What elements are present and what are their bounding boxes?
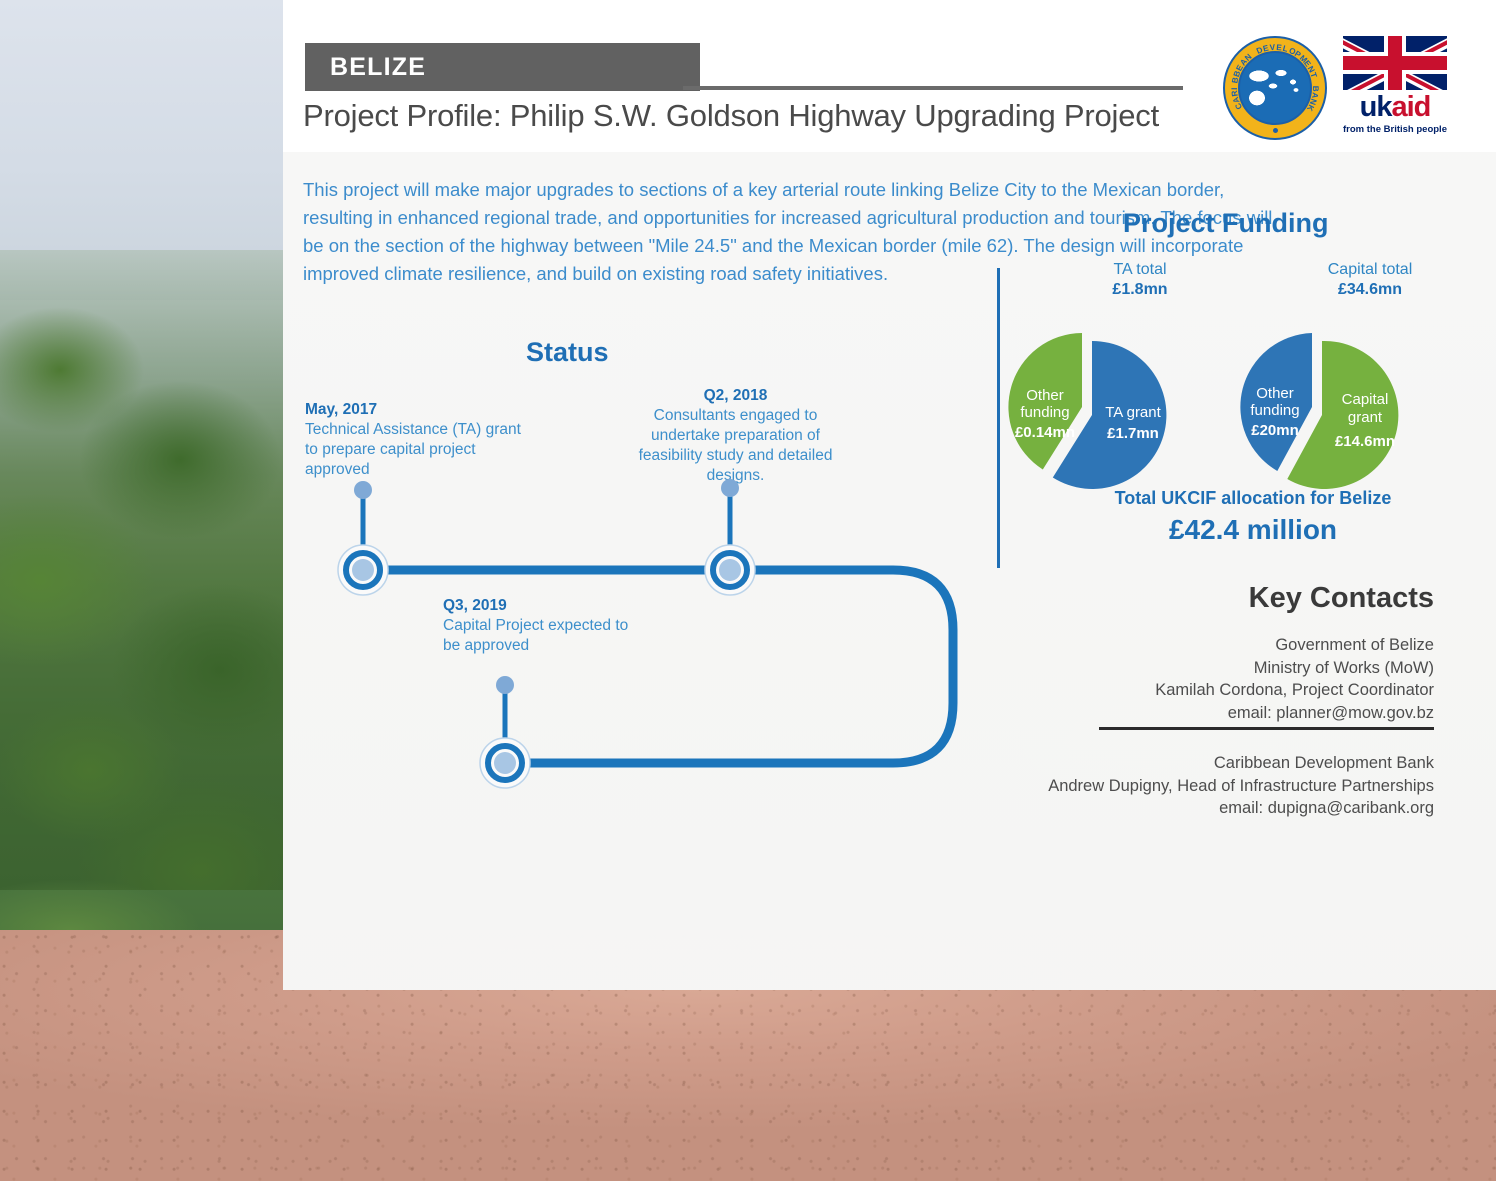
key-contact-government: Government of Belize Ministry of Works (…: [814, 634, 1434, 724]
status-timeline-graphic: [283, 152, 1003, 852]
pie-chart-ta: Other funding £0.14mn TA grant £1.7mn: [1008, 333, 1166, 489]
ukaid-logo: ukaid from the British people: [1339, 36, 1451, 144]
pie-ta-grant-label: TA grant: [1105, 404, 1161, 421]
pie-1-title: TA total: [1113, 261, 1166, 278]
milestone-3-node[interactable]: [480, 738, 530, 788]
ukaid-aid-text: aid: [1391, 91, 1430, 123]
milestone-3-stem-dot: [496, 676, 514, 694]
country-tag: BELIZE: [305, 43, 700, 91]
pie-cap-grant-value: £14.6mn: [1335, 433, 1395, 450]
pie-ta-other-label-l2: funding: [1020, 404, 1069, 421]
pie-cap-grant-label-l1: Capital: [1342, 391, 1389, 408]
page-title: Project Profile: Philip S.W. Goldson Hig…: [303, 98, 1159, 134]
contact-ministry: Ministry of Works (MoW): [814, 657, 1434, 680]
pie-cap-grant-label-l2: grant: [1348, 409, 1383, 426]
pie-ta-other-label-l1: Other: [1026, 387, 1064, 404]
milestone-2-stem-dot: [721, 479, 739, 497]
total-allocation-label: Total UKCIF allocation for Belize: [1043, 488, 1463, 509]
cdb-contact-email[interactable]: email: dupigna@caribank.org: [814, 797, 1434, 820]
pie-2-total: £34.6mn: [1260, 280, 1480, 300]
key-contacts-heading: Key Contacts: [1249, 582, 1434, 615]
pie-ta-grant-value: £1.7mn: [1107, 425, 1159, 442]
ukaid-wordmark: ukaid: [1339, 92, 1451, 122]
key-contacts-divider: [1099, 727, 1434, 730]
cdb-contact-person: Andrew Dupigny, Head of Infrastructure P…: [814, 775, 1434, 798]
content-panel: BELIZE Project Profile: Philip S.W. Gold…: [283, 0, 1496, 990]
ukaid-tagline: from the British people: [1339, 124, 1451, 135]
pie-2-caption: Capital total £34.6mn: [1260, 260, 1480, 300]
contact-org: Government of Belize: [814, 634, 1434, 657]
milestone-2-node[interactable]: [705, 545, 755, 595]
pie-cap-other-label-l2: funding: [1250, 402, 1299, 419]
pie-2-title: Capital total: [1328, 261, 1413, 278]
key-contact-cdb: Caribbean Development Bank Andrew Dupign…: [814, 752, 1434, 820]
pie-cap-other-label-l1: Other: [1256, 385, 1294, 402]
pie-ta-other-value: £0.14mn: [1015, 424, 1075, 441]
pie-1-total: £1.8mn: [1030, 280, 1250, 300]
milestone-1-stem-dot: [354, 481, 372, 499]
header-divider: [683, 86, 1183, 90]
milestone-1-node[interactable]: [338, 545, 388, 595]
funding-heading: Project Funding: [1123, 208, 1329, 239]
caribbean-development-bank-logo: CARIBBEAN DEVELOPMENT BANK: [1223, 36, 1327, 140]
ukaid-uk-text: uk: [1360, 91, 1392, 123]
cdb-contact-org: Caribbean Development Bank: [814, 752, 1434, 775]
pie-1-caption: TA total £1.8mn: [1030, 260, 1250, 300]
union-jack-flag-icon: [1343, 36, 1447, 90]
contact-person: Kamilah Cordona, Project Coordinator: [814, 679, 1434, 702]
pie-chart-capital: Other funding £20mn Capital grant £14.6m…: [1240, 333, 1398, 489]
contact-email[interactable]: email: planner@mow.gov.bz: [814, 702, 1434, 725]
pie-cap-other-value: £20mn: [1251, 422, 1299, 439]
total-allocation-amount: £42.4 million: [1043, 514, 1463, 546]
cdb-logo-text: CARIBBEAN DEVELOPMENT BANK: [1223, 36, 1327, 140]
panel-header: BELIZE Project Profile: Philip S.W. Gold…: [283, 0, 1496, 152]
